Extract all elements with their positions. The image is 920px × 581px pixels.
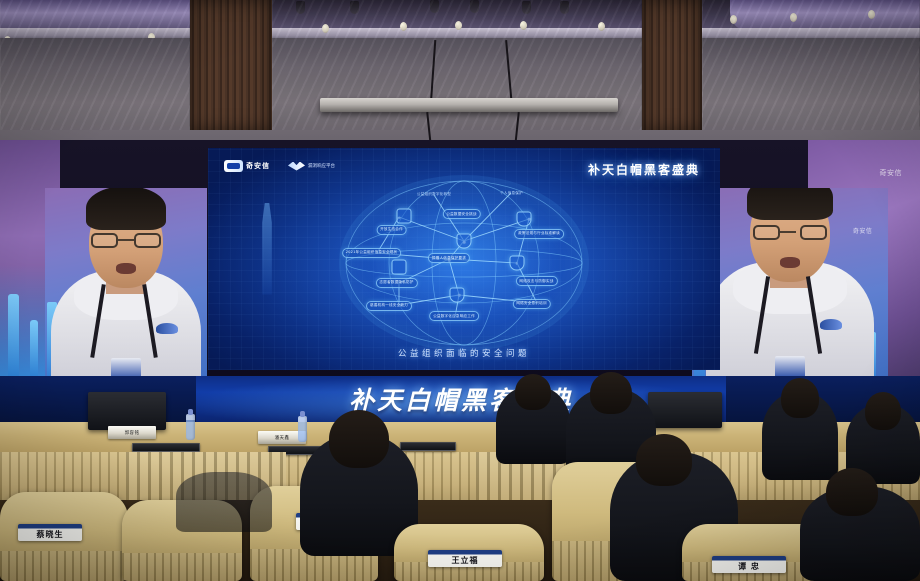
audience-head bbox=[515, 374, 551, 410]
butian-logo-text: 漏洞响应平台 bbox=[308, 163, 335, 169]
chair-nametag: 王立福 bbox=[428, 550, 502, 567]
glasses-icon bbox=[91, 233, 161, 248]
diagram-node: 网络攻击与防御实战 bbox=[515, 276, 557, 286]
center-led-screen: 奇安信 漏洞响应平台 补天白帽黑客盛典 bbox=[208, 148, 720, 370]
audience-head bbox=[781, 378, 819, 418]
diagram-node: 志愿者数据隐私防护 bbox=[375, 278, 417, 288]
network-icon bbox=[509, 256, 524, 271]
skyline-tower bbox=[30, 320, 38, 380]
table-tablet[interactable] bbox=[132, 443, 200, 452]
screen-footer-text: 公益组织面临的安全问题 bbox=[208, 347, 720, 359]
speaker-hair bbox=[86, 188, 166, 230]
skyline-tower bbox=[8, 294, 19, 380]
diagram-node: 捐赠人信息保护要求 bbox=[428, 253, 470, 263]
diagram-links bbox=[339, 175, 589, 351]
water-bottle bbox=[186, 414, 195, 440]
diagram-node: 政策法规与行业标准解读 bbox=[514, 229, 564, 239]
led-brand-watermark: 奇安信 bbox=[880, 168, 903, 178]
butian-wing-icon bbox=[288, 162, 305, 171]
glasses-icon bbox=[753, 225, 827, 240]
audience-member bbox=[176, 472, 272, 532]
speaker-mouth bbox=[780, 257, 800, 268]
network-diagram: 公益组织数字化转型 个人信息保护 公益数据安全挑战 开放生态合作 政策法规与行业… bbox=[339, 175, 589, 351]
id-badge bbox=[775, 356, 805, 378]
diagram-node: 开放生态合作 bbox=[376, 225, 407, 235]
screen-logo-row: 奇安信 漏洞响应平台 bbox=[224, 160, 335, 172]
diagram-node: 网络安全意识培训 bbox=[512, 299, 550, 309]
diagram-node: 个人信息保护 bbox=[497, 189, 526, 197]
cloud-icon bbox=[392, 259, 407, 274]
shield-icon bbox=[517, 212, 532, 227]
audience-head bbox=[636, 434, 692, 486]
diagram-node: 公益组织数字化转型 bbox=[414, 191, 454, 199]
audience-head bbox=[329, 410, 389, 468]
audience-head bbox=[826, 468, 878, 516]
speaker-mouth bbox=[116, 263, 136, 274]
speaker-figure bbox=[692, 188, 888, 380]
projector-screen-bar bbox=[320, 98, 618, 112]
diagram-node: 2021年公益组织信息安全现状 bbox=[342, 248, 402, 258]
qax-logo-text: 奇安信 bbox=[246, 161, 270, 171]
diagram-node: 慈善机构一线安全能力 bbox=[366, 301, 412, 311]
audience-head bbox=[865, 392, 901, 430]
video-panel-right: 奇安信 bbox=[692, 188, 888, 380]
shield-check-icon bbox=[457, 233, 472, 248]
qax-logo: 奇安信 bbox=[224, 160, 270, 172]
lock-icon bbox=[397, 208, 412, 223]
butian-logo: 漏洞响应平台 bbox=[288, 162, 335, 171]
wall-panel bbox=[0, 0, 190, 130]
table-tablet[interactable] bbox=[400, 442, 456, 451]
stage-monitor-speaker bbox=[88, 392, 166, 430]
water-bottle bbox=[298, 416, 307, 442]
chair-nametag: 谭 忠 bbox=[712, 556, 786, 573]
speaker-hair bbox=[747, 188, 833, 220]
stage-monitor-speaker bbox=[648, 392, 722, 428]
screen-event-title: 补天白帽黑客盛典 bbox=[588, 161, 700, 178]
hoodie-logo-icon bbox=[820, 319, 842, 330]
chair-nametag: 蔡晓生 bbox=[18, 524, 82, 541]
diagram-node: 公益数字化应急响应工作 bbox=[429, 311, 479, 321]
wall-panel bbox=[702, 0, 920, 130]
wall-wood-column bbox=[190, 0, 272, 130]
hoodie-logo-icon bbox=[156, 323, 178, 334]
video-panel-left bbox=[45, 188, 207, 380]
qax-logo-mark bbox=[224, 160, 243, 172]
audience-head bbox=[590, 372, 632, 414]
table-nameplate: 郭容铭 bbox=[108, 426, 156, 439]
conference-scene: 奇安信 bbox=[0, 0, 920, 581]
wall-wood-column bbox=[642, 0, 702, 130]
diagram-node: 公益数据安全挑战 bbox=[442, 209, 480, 219]
server-icon bbox=[449, 288, 464, 303]
speaker-figure bbox=[45, 188, 207, 380]
